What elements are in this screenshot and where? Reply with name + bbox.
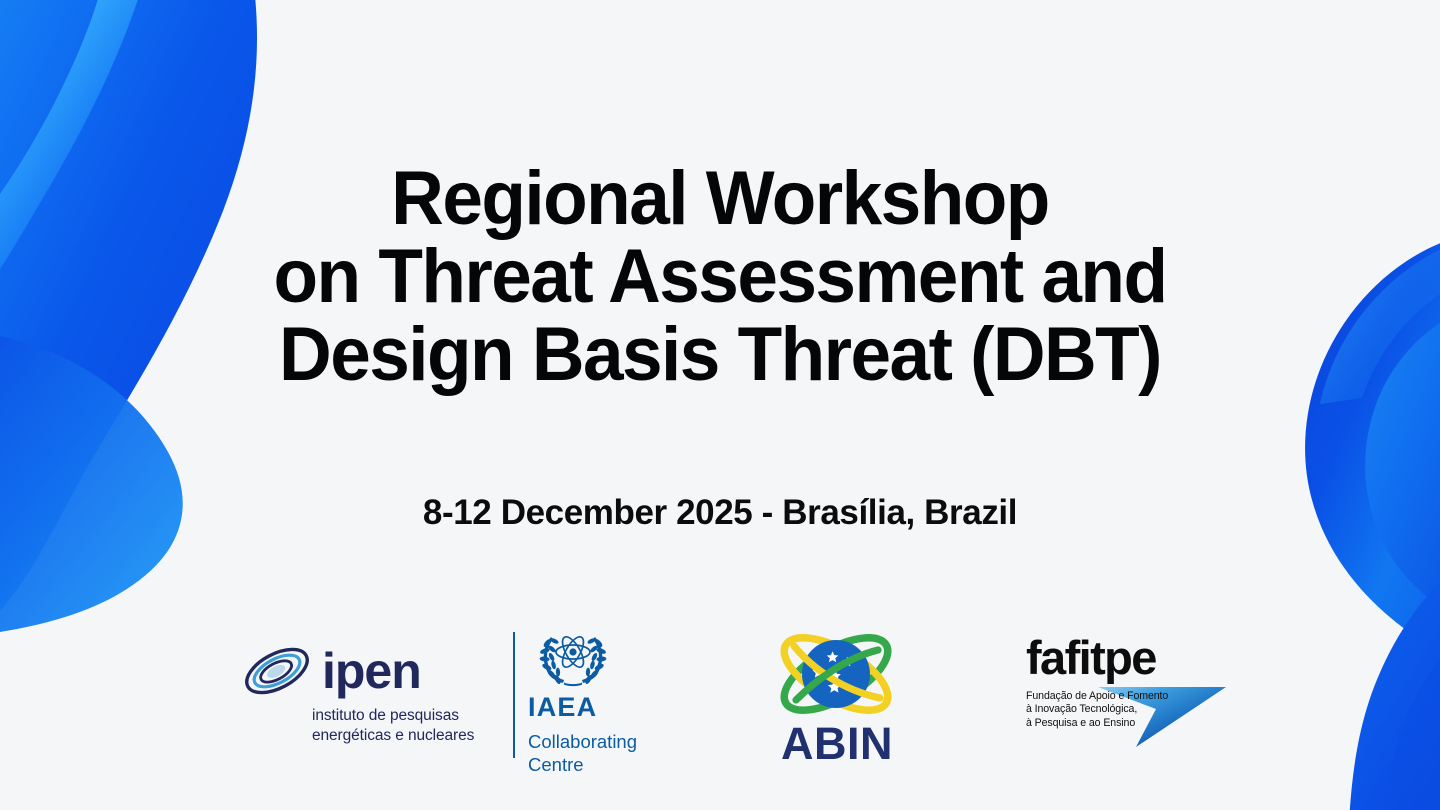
event-poster: Regional Workshop on Threat Assessment a… [0,0,1440,810]
logo-strip: ipen instituto de pesquisas energéticas … [0,618,1440,778]
abin-wordmark: ABIN [772,718,902,770]
globe-orbits-icon [772,628,900,720]
fafitpe-wordmark: fafitpe [1026,634,1226,681]
title-line-1: Regional Workshop [29,160,1411,238]
logo-ipen: ipen instituto de pesquisas energéticas … [240,640,500,755]
page-title: Regional Workshop on Threat Assessment a… [0,160,1440,394]
logo-abin: ABIN [772,628,902,768]
title-line-3: Design Basis Threat (DBT) [29,316,1411,394]
fafitpe-tagline-2: à Inovação Tecnológica, [1026,703,1168,716]
event-dates-location: 8-12 December 2025 - Brasília, Brazil [0,493,1440,533]
orbital-swirl-icon [240,640,314,702]
logo-fafitpe: fafitpe Fundação de Apoio e Fomento [1026,634,1226,754]
fafitpe-tagline-1: Fundação de Apoio e Fomento [1026,690,1168,703]
ipen-wordmark: ipen [322,646,421,696]
ipen-tagline-2: energéticas e nucleares [312,726,500,746]
title-line-2: on Threat Assessment and [29,238,1411,316]
iaea-subtitle-1: Collaborating [528,730,688,753]
iaea-subtitle-2: Centre [528,753,688,776]
ipen-tagline-1: instituto de pesquisas [312,706,500,726]
logo-divider [513,632,515,758]
logo-iaea: IAEA Collaborating Centre [528,626,688,771]
iaea-name: IAEA [528,692,688,723]
fafitpe-tagline-3: à Pesquisa e ao Ensino [1026,717,1168,730]
laurel-atom-icon [530,626,616,688]
